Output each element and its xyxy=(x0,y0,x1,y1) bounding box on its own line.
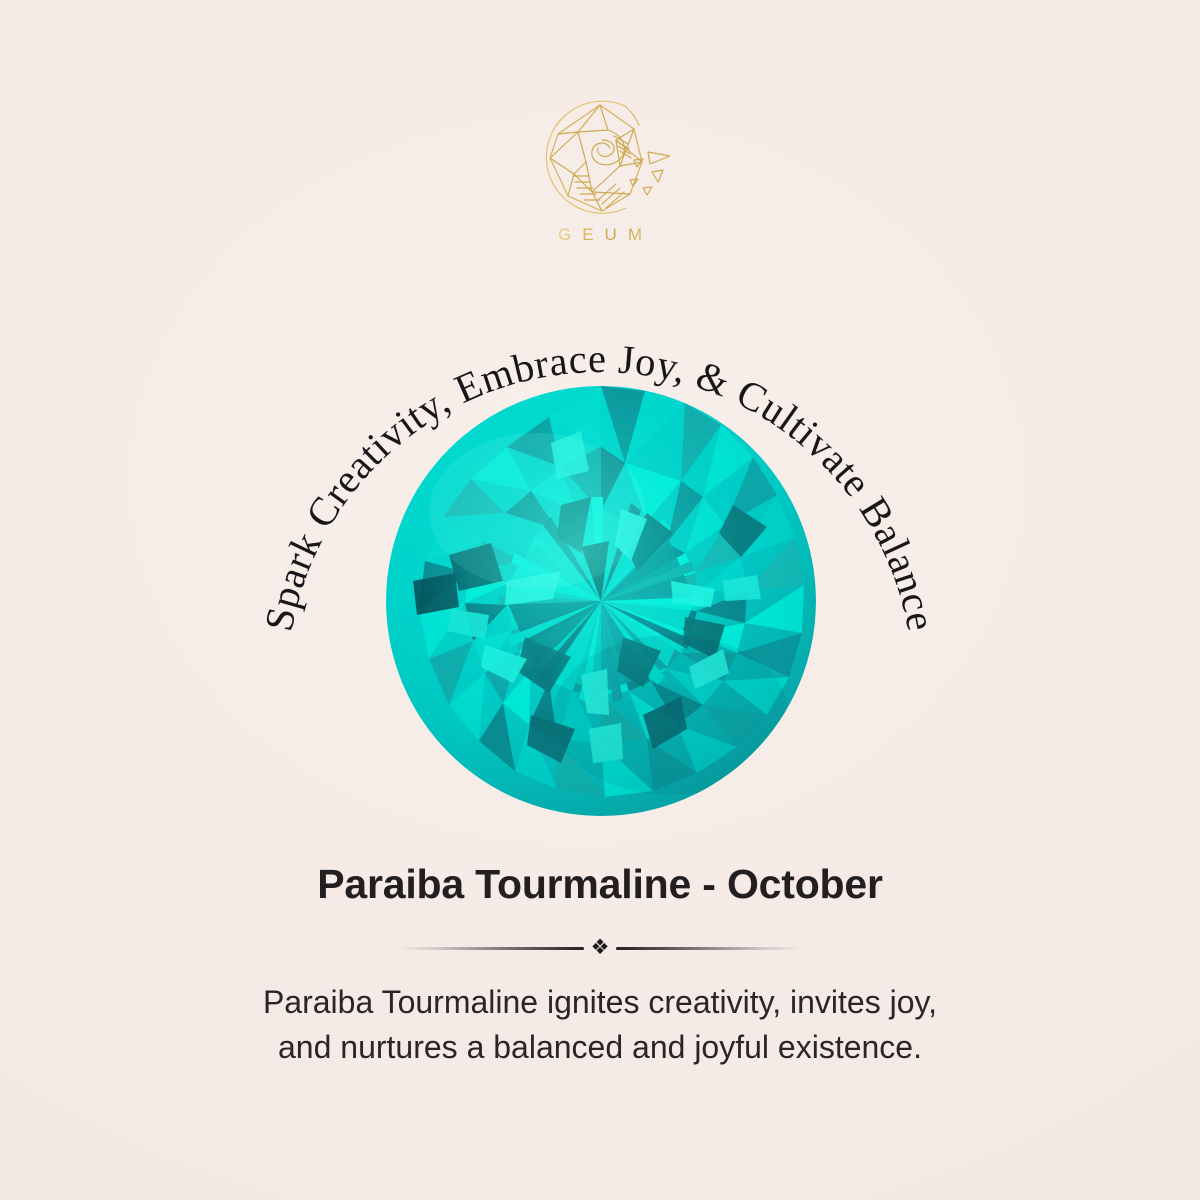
gemstone-title: Paraiba Tourmaline - October xyxy=(0,862,1200,907)
brand-wordmark: GEUM xyxy=(547,226,653,243)
gemstone-info-card: GEUM Spark Creativity, Embrace Joy, & Cu… xyxy=(0,0,1200,1200)
ornamental-divider: ❖ xyxy=(380,930,820,966)
gemstone-description-line-2: and nurtures a balanced and joyful exist… xyxy=(190,1025,1010,1070)
divider-line-right xyxy=(616,947,801,950)
faceted-gem-logo-icon xyxy=(530,96,670,218)
gemstone-description: Paraiba Tourmaline ignites creativity, i… xyxy=(190,980,1010,1071)
divider-line-left xyxy=(399,947,584,950)
paraiba-tourmaline-gem xyxy=(385,385,817,817)
gemstone-description-line-1: Paraiba Tourmaline ignites creativity, i… xyxy=(190,980,1010,1025)
gemstone-image xyxy=(385,385,817,817)
brand-logo: GEUM xyxy=(0,96,1200,243)
diamond-ornament-icon: ❖ xyxy=(591,937,610,958)
